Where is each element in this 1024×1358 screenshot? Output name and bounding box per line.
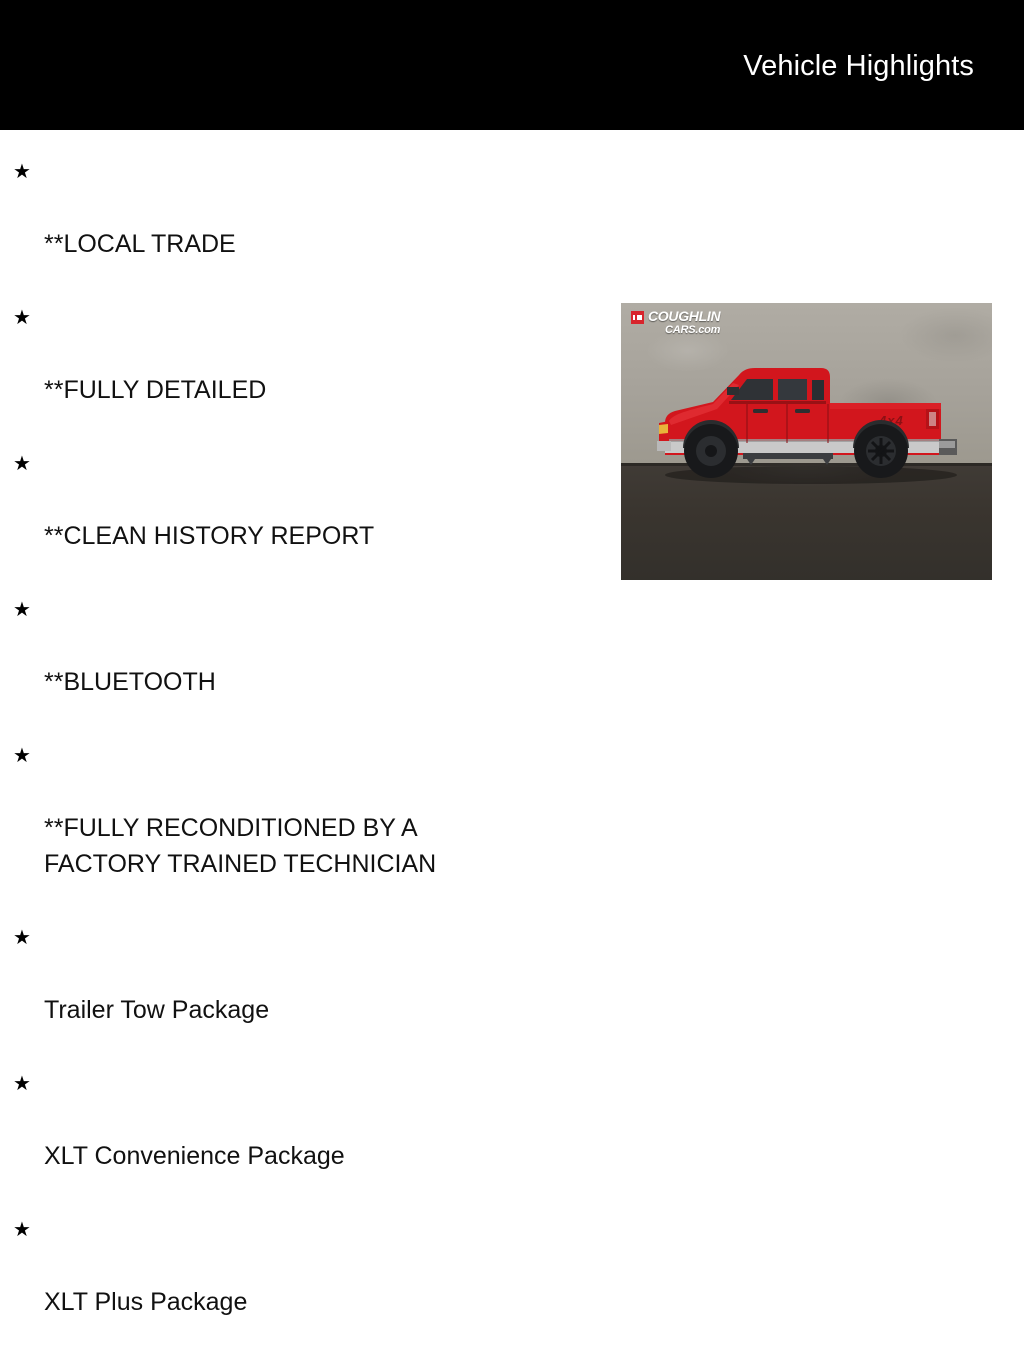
dealer-name: COUGHLIN: [648, 309, 720, 323]
list-item-label: **BLUETOOTH: [44, 668, 216, 696]
list-item-label: **LOCAL TRADE: [44, 230, 236, 258]
vehicle-highlights-list: ★ **LOCAL TRADE ★ **FULLY DETAILED ★ **C…: [0, 130, 600, 1358]
list-item-label: **FULLY RECONDITIONED BY A FACTORY TRAIN…: [44, 814, 436, 878]
list-item: ★ Trailer Tow Package: [0, 920, 600, 1028]
list-item: ★ **FULLY RECONDITIONED BY A FACTORY TRA…: [0, 738, 600, 882]
star-bullet-icon: ★: [13, 300, 31, 336]
star-bullet-icon: ★: [13, 1066, 31, 1102]
list-item: ★ **CLEAN HISTORY REPORT: [0, 446, 600, 554]
header-bar: Vehicle Highlights: [0, 0, 1024, 130]
star-bullet-icon: ★: [13, 154, 31, 190]
list-item-label: Trailer Tow Package: [44, 996, 269, 1024]
list-item: ★ **BLUETOOTH: [0, 592, 600, 700]
dealer-watermark: COUGHLIN CARS.com: [631, 309, 720, 336]
truck-illustration: 4x4: [621, 303, 992, 580]
star-bullet-icon: ★: [13, 1212, 31, 1248]
vehicle-photo: 4x4 COUGHLIN CARS.com: [621, 303, 992, 580]
star-bullet-icon: ★: [13, 738, 31, 774]
dealer-site: CARS.com: [648, 325, 720, 336]
star-bullet-icon: ★: [13, 446, 31, 482]
page-title: Vehicle Highlights: [743, 49, 974, 83]
list-item-label: XLT Convenience Package: [44, 1142, 345, 1170]
list-item-label: **FULLY DETAILED: [44, 376, 266, 404]
list-item: ★ **LOCAL TRADE: [0, 154, 600, 262]
list-item: ★ **FULLY DETAILED: [0, 300, 600, 408]
dealer-text-block: COUGHLIN CARS.com: [648, 309, 720, 336]
list-item-label: XLT Plus Package: [44, 1288, 247, 1316]
list-item-label: **CLEAN HISTORY REPORT: [44, 522, 374, 550]
list-item: ★ XLT Plus Package: [0, 1212, 600, 1320]
coughlin-logo-icon: [631, 311, 644, 324]
star-bullet-icon: ★: [13, 592, 31, 628]
star-bullet-icon: ★: [13, 920, 31, 956]
list-item: ★ XLT Convenience Package: [0, 1066, 600, 1174]
